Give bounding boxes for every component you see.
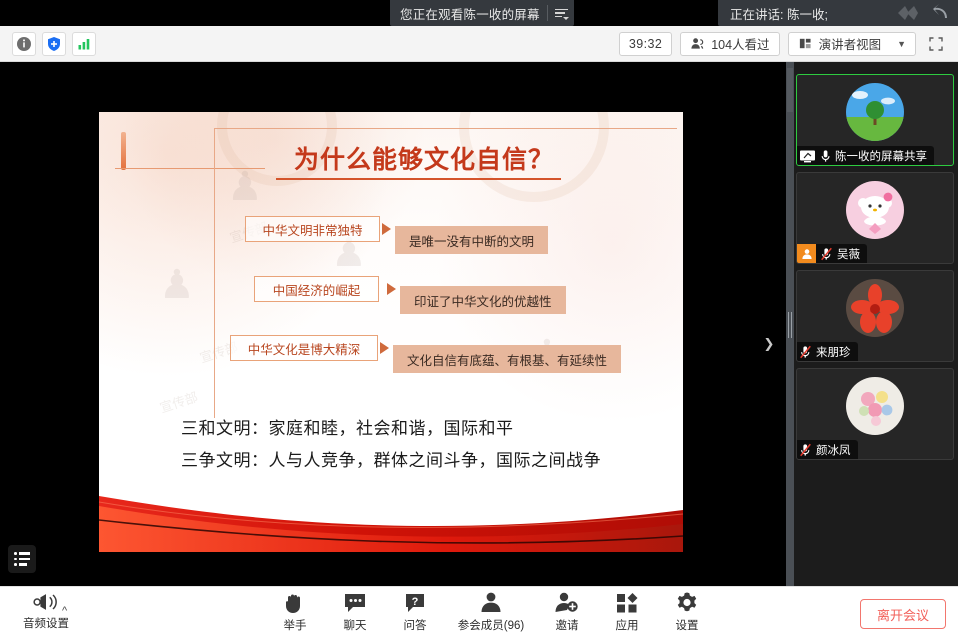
leave-meeting-button[interactable]: 离开会议: [860, 599, 946, 629]
apps-button[interactable]: 应用: [597, 590, 657, 633]
qa-label: 问答: [404, 617, 427, 633]
apps-label: 应用: [616, 617, 639, 633]
chevron-right-icon[interactable]: ❯: [760, 324, 778, 364]
info-icon[interactable]: [12, 32, 36, 56]
meeting-timer[interactable]: 39:32: [619, 32, 672, 56]
svg-text:?: ?: [412, 596, 419, 608]
mic-muted-icon: [799, 443, 812, 457]
presentation-slide: ♟ ♟ ♟ ♟ 宣传部 宣传部 宣传部 宣传部 宣传部 为什么能够文化自信？ 中…: [99, 112, 683, 552]
speaking-decor-icons: [896, 2, 952, 24]
network-signal-icon[interactable]: [72, 32, 96, 56]
chevrons-icon: [896, 2, 926, 24]
participant-namebar: 陈一收的屏幕共享: [797, 146, 934, 165]
participant-name: 陈一收的屏幕共享: [835, 148, 927, 164]
slide-title: 为什么能够文化自信？: [259, 140, 589, 176]
participant-tile[interactable]: 吴薇: [796, 172, 954, 264]
zoom-meeting-window: 您正在观看陈一收的屏幕 正在讲话: 陈一收;: [0, 0, 958, 640]
slide-row-tag: 中华文化是博大精深: [230, 335, 378, 361]
panel-scrollbar[interactable]: [786, 62, 794, 586]
shared-screen-stage: ♟ ♟ ♟ ♟ 宣传部 宣传部 宣传部 宣传部 宣传部 为什么能够文化自信？ 中…: [0, 62, 786, 586]
settings-button[interactable]: 设置: [657, 590, 717, 633]
divider: [547, 5, 548, 21]
participants-button[interactable]: 参会成员(96): [445, 590, 537, 633]
screen-share-icon: [799, 149, 816, 163]
share-list-icon[interactable]: [8, 545, 36, 573]
people-icon: [690, 36, 705, 51]
audio-settings-button[interactable]: 音频设置: [10, 590, 82, 631]
undo-arrow-icon[interactable]: [930, 2, 952, 24]
avatar: [846, 377, 904, 435]
control-buttons-group: 举手 聊天 ? 问答: [265, 590, 717, 633]
layout-icon: [798, 36, 813, 51]
decor-tick: [121, 132, 126, 170]
participant-tile[interactable]: 颜冰凤: [796, 368, 954, 460]
toolbar-left-group: [0, 32, 96, 56]
raise-hand-label: 举手: [284, 617, 307, 633]
chat-bubble-icon: [342, 590, 368, 615]
participant-tile[interactable]: 来朋珍: [796, 270, 954, 362]
chevron-down-icon: ▼: [897, 39, 906, 49]
gear-icon: [674, 590, 700, 615]
slide-row-tag: 中华文明非常独特: [245, 216, 380, 242]
scrollbar-grip[interactable]: [788, 312, 792, 338]
arrow-icon: [382, 223, 391, 235]
meeting-toolbar: 39:32 104人看过 演讲者视图 ▼: [0, 26, 958, 62]
invite-label: 邀请: [556, 617, 579, 633]
watching-notice-pill[interactable]: 您正在观看陈一收的屏幕: [390, 0, 574, 26]
participant-namebar: 颜冰凤: [797, 440, 858, 459]
viewers-count-button[interactable]: 104人看过: [680, 32, 779, 56]
chat-button[interactable]: 聊天: [325, 590, 385, 633]
apps-grid-icon: [614, 590, 640, 615]
audio-settings-label: 音频设置: [23, 615, 69, 631]
arrow-icon: [380, 342, 389, 354]
slide-bottom-line: 三争文明：人与人竞争，群体之间斗争，国际之间战争: [181, 446, 601, 471]
participant-name: 来朋珍: [816, 344, 851, 360]
raise-hand-button[interactable]: 举手: [265, 590, 325, 633]
slide-row: 中国经济的崛起 印证了中华文化的优越性: [254, 276, 674, 306]
timer-value: 39:32: [629, 37, 662, 51]
scrollbar-thumb[interactable]: [787, 68, 793, 112]
decor-frame-left: [214, 128, 215, 418]
view-mode-label: 演讲者视图: [819, 34, 882, 53]
slide-row-desc: 文化自信有底蕴、有根基、有延续性: [393, 345, 621, 373]
slide-wave-decoration: [99, 480, 683, 552]
hamburger-menu-icon[interactable]: [555, 9, 568, 18]
chat-label: 聊天: [344, 617, 367, 633]
participant-namebar: 吴薇: [797, 244, 867, 263]
participants-panel: ❯: [786, 62, 958, 586]
raise-hand-icon: [282, 590, 308, 615]
decor-frame-top: [214, 128, 677, 129]
slide-title-underline: [276, 178, 561, 180]
qa-bubble-icon: ?: [402, 590, 428, 615]
invite-button[interactable]: 邀请: [537, 590, 597, 633]
avatar: [846, 279, 904, 337]
fullscreen-icon[interactable]: [924, 32, 948, 56]
participant-name: 吴薇: [837, 246, 860, 262]
participant-name: 颜冰凤: [816, 442, 851, 458]
toolbar-right-group: 39:32 104人看过 演讲者视图 ▼: [619, 32, 948, 56]
decor-figure: ♟: [227, 164, 263, 210]
shield-plus-icon[interactable]: [42, 32, 66, 56]
slide-row-desc: 印证了中华文化的优越性: [400, 286, 566, 314]
avatar: [846, 83, 904, 141]
top-strip: 您正在观看陈一收的屏幕 正在讲话: 陈一收;: [0, 0, 958, 26]
speaking-indicator: 正在讲话: 陈一收;: [718, 0, 958, 26]
chevron-up-icon[interactable]: ^: [62, 605, 67, 617]
mic-muted-icon: [820, 247, 833, 261]
arrow-icon: [387, 283, 396, 295]
speaking-label: 正在讲话: 陈一收;: [730, 4, 828, 23]
invite-person-icon: [554, 590, 580, 615]
slide-row: 中华文明非常独特 是唯一没有中断的文明: [245, 216, 665, 246]
settings-label: 设置: [676, 617, 699, 633]
participants-icon: [478, 590, 504, 615]
mic-muted-icon: [799, 345, 812, 359]
headset-speaker-icon: [32, 590, 60, 614]
participant-namebar: 来朋珍: [797, 342, 858, 361]
slide-row: 中华文化是博大精深 文化自信有底蕴、有根基、有延续性: [230, 335, 680, 365]
decor-figure: ♟: [159, 262, 195, 308]
decor-line-left: [115, 168, 265, 169]
participant-tile[interactable]: 陈一收的屏幕共享: [796, 74, 954, 166]
participants-label: 参会成员(96): [458, 617, 524, 633]
meeting-controls-bar: 音频设置 ^ 举手 聊天: [0, 586, 958, 640]
qa-button[interactable]: ? 问答: [385, 590, 445, 633]
participant-tile-list: 陈一收的屏幕共享: [794, 62, 958, 586]
watching-notice-text: 您正在观看陈一收的屏幕: [400, 4, 540, 23]
avatar: [846, 181, 904, 239]
slide-row-tag: 中国经济的崛起: [254, 276, 379, 302]
host-person-icon: [797, 244, 816, 263]
slide-row-desc: 是唯一没有中断的文明: [395, 226, 548, 254]
mic-on-icon: [820, 149, 831, 163]
viewers-count-label: 104人看过: [711, 34, 769, 53]
view-mode-dropdown[interactable]: 演讲者视图 ▼: [788, 32, 916, 56]
slide-bottom-line: 三和文明：家庭和睦，社会和谐，国际和平: [181, 414, 514, 439]
